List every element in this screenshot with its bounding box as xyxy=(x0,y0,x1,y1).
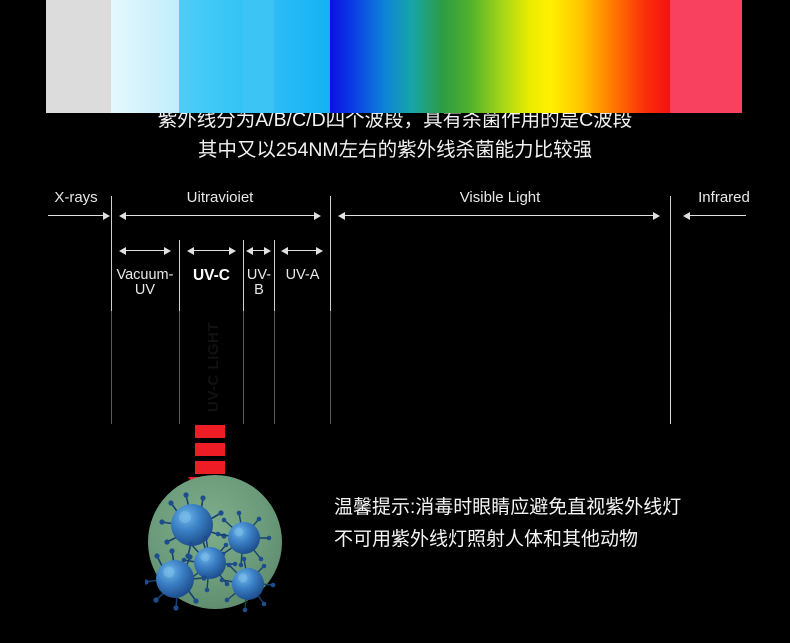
subband-arrow-uvc-cap-right xyxy=(229,247,236,255)
warning-line-2: 不可用紫外线灯照射人体和其他动物 xyxy=(334,524,638,551)
beam-dash-1 xyxy=(195,425,225,438)
subband-label-vacuum-uv-line2: UV xyxy=(135,282,155,298)
band-arrow-visible-cap-left xyxy=(338,212,345,220)
bar-divider-xray-uv xyxy=(111,311,112,424)
spectrum-segment-vacuum-uv xyxy=(111,0,179,113)
band-arrow-visible xyxy=(345,215,653,216)
subband-arrow-vacuum-uv-cap-right xyxy=(164,247,171,255)
subband-label-vacuum-uv-line1: Vacuum- xyxy=(117,267,174,283)
spectrum-segment-infrared xyxy=(670,0,742,113)
band-arrow-infrared-cap-left xyxy=(683,212,690,220)
band-arrow-visible-cap-right xyxy=(653,212,660,220)
subband-label-vacuum-uv: Vacuum- UV xyxy=(112,268,178,298)
spectrum-segment-uva xyxy=(274,0,330,113)
subband-arrow-uva-cap-left xyxy=(281,247,288,255)
band-arrow-uv-cap-left xyxy=(119,212,126,220)
subband-arrow-uvb-cap-right xyxy=(264,247,271,255)
band-label-visible-light: Visible Light xyxy=(340,190,660,206)
subband-arrow-uvb-cap-left xyxy=(246,247,253,255)
band-label-xrays: X-rays xyxy=(42,190,110,206)
band-arrow-xrays-cap-right xyxy=(103,212,110,220)
subband-label-uvb-line2: B xyxy=(254,282,264,298)
bar-divider-uvc-uvb xyxy=(243,311,244,424)
bar-divider-uvb-uva xyxy=(274,311,275,424)
bar-divider-vacuum-uvc xyxy=(179,311,180,424)
band-label-ultraviolet: Uitravioiet xyxy=(121,190,319,206)
subband-label-uvc: UV-C xyxy=(180,268,243,284)
subband-label-uva: UV-A xyxy=(275,268,330,283)
warning-line-1: 温馨提示:消毒时眼睛应避免直视紫外线灯 xyxy=(334,492,681,519)
subband-arrow-uvc xyxy=(194,250,229,251)
subband-label-uvb: UV- B xyxy=(244,268,274,298)
band-label-infrared: Infrared xyxy=(678,190,770,206)
virus-cluster xyxy=(145,470,290,615)
spectrum-segment-visible xyxy=(330,0,670,113)
subband-arrow-vacuum-uv-cap-left xyxy=(119,247,126,255)
spectrum-segment-uvb xyxy=(243,0,274,113)
subband-arrow-uvc-cap-left xyxy=(187,247,194,255)
bar-divider-uv-visible xyxy=(330,311,331,424)
subband-label-uvb-line1: UV- xyxy=(247,267,271,283)
band-arrow-infrared xyxy=(690,215,746,216)
spectrum-segment-xray xyxy=(46,0,111,113)
band-arrow-uv xyxy=(126,215,314,216)
band-arrow-uv-cap-right xyxy=(314,212,321,220)
spectrum-segment-uvc xyxy=(179,0,243,113)
band-arrow-xrays xyxy=(48,215,104,216)
divider-visible-ir xyxy=(670,196,671,311)
bar-divider-visible-ir xyxy=(670,311,671,424)
infographic-root: 紫外线杀菌原理 紫外线分为A/B/C/D四个波段，具有杀菌作用的是C波段 其中又… xyxy=(0,0,790,643)
uvc-light-callout: UV-C LIGHT xyxy=(205,322,222,412)
subband-arrow-vacuum-uv xyxy=(126,250,164,251)
virus-cluster-svg xyxy=(145,470,290,615)
subband-arrow-uva-cap-right xyxy=(316,247,323,255)
subband-arrow-uva xyxy=(288,250,318,251)
beam-dash-2 xyxy=(195,443,225,456)
divider-uv-visible xyxy=(330,196,331,311)
